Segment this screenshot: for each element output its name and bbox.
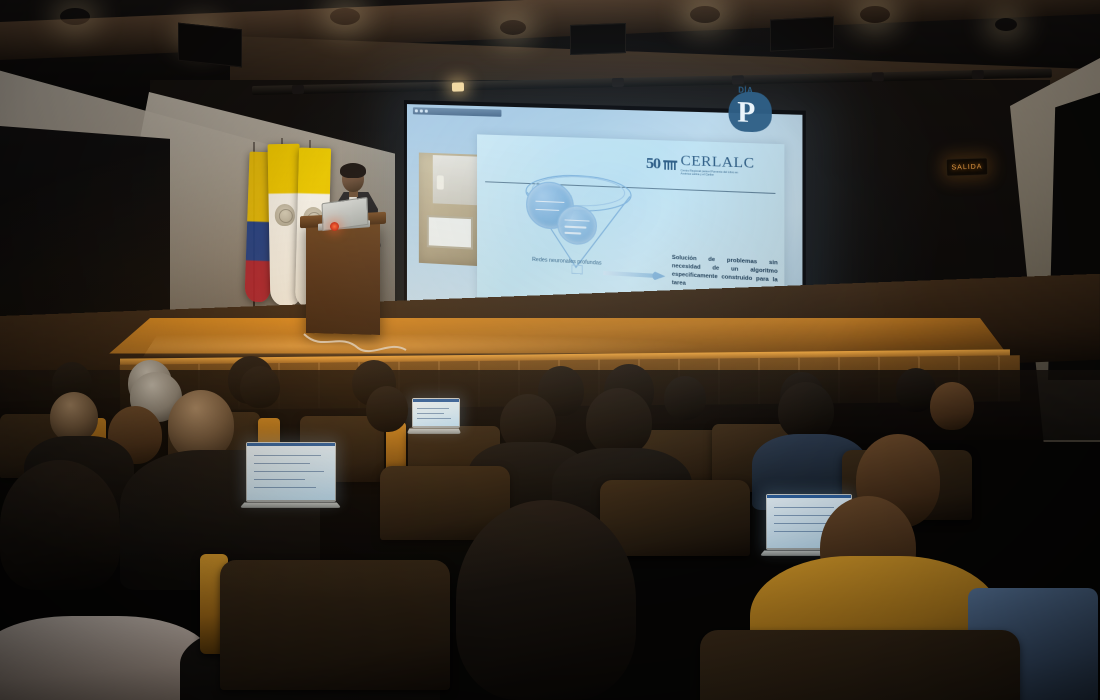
dia-p-letter: P [737, 98, 755, 129]
ceiling-speaker-icon [178, 23, 242, 68]
track-light-icon [872, 72, 884, 81]
institution-building-icon [663, 158, 677, 171]
ceiling-downlight-icon [500, 20, 526, 35]
audience-head [0, 460, 120, 590]
track-light-icon [612, 78, 624, 87]
track-light-icon [732, 75, 744, 84]
audience [0, 330, 1100, 700]
ceiling-downlight-icon [995, 18, 1017, 31]
audience-head [778, 382, 834, 440]
audience-head-bald [50, 392, 98, 442]
podium [306, 221, 380, 335]
track-light-icon [972, 70, 984, 79]
track-light-icon [452, 82, 464, 91]
dia-p-logo: DÍA P [725, 85, 780, 135]
left-acoustic-panel [0, 126, 170, 341]
audience-laptop[interactable] [412, 398, 460, 428]
audience-head [586, 388, 652, 456]
audience-head [240, 366, 280, 408]
anniversary-50-icon: 50 [646, 156, 660, 172]
audience-head [456, 500, 636, 700]
ceiling-downlight-icon [330, 8, 360, 25]
audience-head [366, 386, 408, 432]
exit-sign-label: SALIDA [951, 163, 982, 171]
cerlalc-subtitle: Centro Regional para el Fomento del Libr… [681, 169, 740, 179]
audience-laptop[interactable] [246, 442, 336, 502]
auditorium-seat [600, 480, 750, 556]
track-light-icon [292, 85, 304, 94]
audience-head [664, 376, 706, 420]
dia-p-small-text: DÍA [738, 86, 753, 95]
window-titlebar[interactable] [413, 107, 502, 117]
audience-shoulders [0, 616, 210, 700]
ceiling-speaker-icon [770, 16, 834, 51]
flag-crest-icon [275, 204, 295, 226]
ceiling-downlight-icon [860, 6, 890, 23]
ceiling-speaker-icon [570, 23, 626, 55]
cerlalc-logo: 50 CERLALC Centro Regional para el Fomen… [646, 148, 778, 184]
audience-head [930, 382, 974, 430]
exit-sign: SALIDA [946, 157, 989, 176]
auditorium-seat [220, 560, 450, 690]
ceiling-downlight-icon [690, 6, 720, 23]
auditorium-photo: SALIDA 50 [0, 0, 1100, 700]
auditorium-seat [700, 630, 1020, 700]
ceiling-downlight-icon [60, 8, 90, 25]
podium-indicator-light-icon [330, 222, 339, 231]
